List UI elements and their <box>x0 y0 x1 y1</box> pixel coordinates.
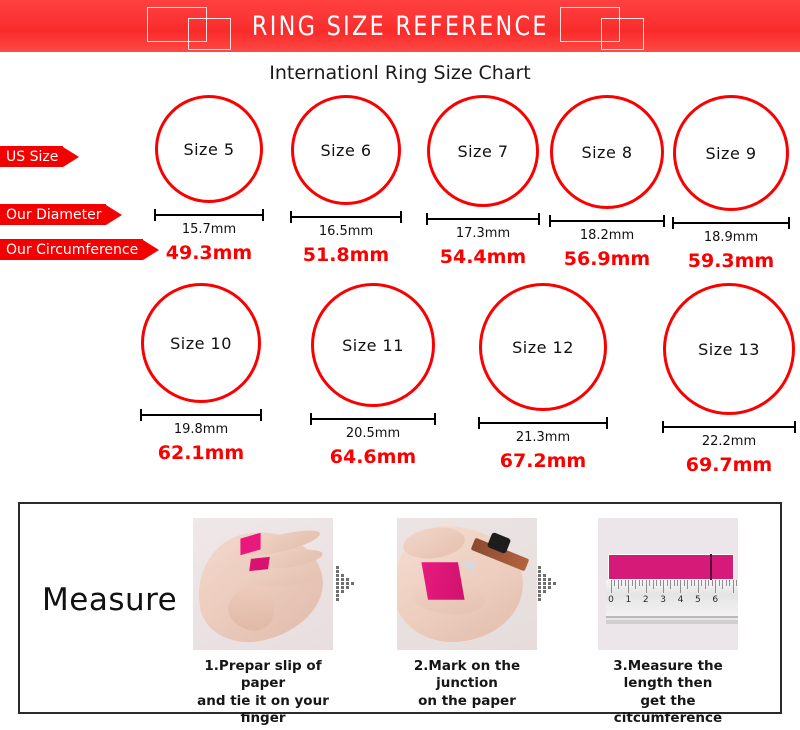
arrow-head-icon <box>63 147 79 167</box>
diameter-dimension-line <box>662 421 796 433</box>
ring-circumference-value: 51.8mm <box>283 244 409 266</box>
step-caption-line-2: on the paper <box>392 693 542 710</box>
diameter-dimension-line <box>140 409 262 421</box>
ring-size-cell: Size 1019.8mm62.1mm <box>133 283 269 464</box>
ring-diameter-value: 15.7mm <box>147 222 271 237</box>
ring-circumference-value: 64.6mm <box>303 446 443 468</box>
ring-size-cell: Size 1221.3mm67.2mm <box>471 283 615 472</box>
measure-instructions-panel: Measure 1.Prepar slip of paper and tie i… <box>18 502 782 714</box>
ruler-number: 0 <box>608 595 614 605</box>
diameter-dimension-line <box>426 213 540 225</box>
step-caption-line-1: 2.Mark on the junction <box>392 658 542 693</box>
ring-circle: Size 12 <box>479 283 607 411</box>
ring-circle: Size 7 <box>427 95 539 207</box>
ring-size-cell: Size 1322.2mm69.7mm <box>655 283 800 476</box>
dotted-arrow-icon <box>336 566 362 600</box>
ring-circumference-value: 67.2mm <box>471 450 615 472</box>
ring-diameter-value: 19.8mm <box>133 422 269 437</box>
ruler-number: 2 <box>643 595 649 605</box>
paper-slip <box>249 557 270 571</box>
ring-circumference-value: 69.7mm <box>655 454 800 476</box>
ring-circle: Size 8 <box>550 95 664 209</box>
ring-diameter-value: 21.3mm <box>471 430 615 445</box>
ring-circle: Size 10 <box>141 283 261 403</box>
paper-slip <box>608 554 734 580</box>
ring-size-cell: Size 515.7mm49.3mm <box>147 95 271 264</box>
ring-size-cell: Size 918.9mm59.3mm <box>665 95 797 272</box>
pen-mark <box>710 554 712 580</box>
ruler-icon: 0123456 <box>606 580 738 618</box>
ruler-number: 1 <box>625 595 631 605</box>
label-our-circumference-text: Our Circumference <box>0 239 143 260</box>
ring-size-label: Size 13 <box>698 340 760 359</box>
decoration-rectangle-small <box>188 18 231 50</box>
ring-circle: Size 11 <box>311 283 435 407</box>
ring-circumference-value: 62.1mm <box>133 442 269 464</box>
step-caption-line-1: 3.Measure the length then <box>593 658 743 693</box>
ring-circle: Size 6 <box>291 95 401 205</box>
ring-circumference-value: 59.3mm <box>665 250 797 272</box>
ring-circle: Size 9 <box>673 95 789 211</box>
measure-heading: Measure <box>42 582 177 618</box>
ruler-number: 5 <box>695 595 701 605</box>
ring-diameter-value: 16.5mm <box>283 224 409 239</box>
ruler-number: 3 <box>660 595 666 605</box>
ring-size-cell: Size 1120.5mm64.6mm <box>303 283 443 468</box>
label-our-diameter-text: Our Diameter <box>0 204 106 225</box>
measure-step-1-caption: 1.Prepar slip of paper and tie it on you… <box>188 658 338 727</box>
ring-size-cell: Size 616.5mm51.8mm <box>283 95 409 266</box>
diameter-dimension-line <box>549 215 665 227</box>
ruler-number: 4 <box>678 595 684 605</box>
ring-size-label: Size 10 <box>170 334 232 353</box>
diameter-dimension-line <box>672 217 790 229</box>
ring-diameter-value: 18.2mm <box>542 228 672 243</box>
label-us-size-text: US Size <box>0 146 63 167</box>
ring-size-label: Size 6 <box>320 141 371 160</box>
ring-size-cell: Size 717.3mm54.4mm <box>419 95 547 268</box>
diameter-dimension-line <box>290 211 402 223</box>
diameter-dimension-line <box>154 209 264 221</box>
measure-step-2-caption: 2.Mark on the junction on the paper <box>392 658 542 710</box>
ring-diameter-value: 18.9mm <box>665 230 797 245</box>
ring-diameter-value: 17.3mm <box>419 226 547 241</box>
measure-step-3: 0123456 3.Measure the length then get th… <box>593 518 743 727</box>
ring-size-label: Size 7 <box>457 142 508 161</box>
ring-circumference-value: 49.3mm <box>147 242 271 264</box>
ring-size-label: Size 8 <box>581 143 632 162</box>
banner-title: RING SIZE REFERENCE <box>252 11 549 42</box>
label-our-circumference: Our Circumference <box>0 239 159 260</box>
measure-step-3-caption: 3.Measure the length then get the citcum… <box>593 658 743 727</box>
step-caption-line-1: 1.Prepar slip of paper <box>188 658 338 693</box>
banner-decoration-right <box>558 4 668 48</box>
photo-marking-paper-with-pen <box>397 518 537 650</box>
ruler-number: 6 <box>712 595 718 605</box>
measure-step-1: 1.Prepar slip of paper and tie it on you… <box>188 518 338 727</box>
ring-size-label: Size 11 <box>342 336 404 355</box>
ring-size-cell: Size 818.2mm56.9mm <box>542 95 672 270</box>
ring-size-label: Size 5 <box>183 140 234 159</box>
measure-step-2: 2.Mark on the junction on the paper <box>392 518 542 710</box>
arrow-head-icon <box>106 205 122 225</box>
ring-circle: Size 13 <box>663 283 795 415</box>
ring-circle: Size 5 <box>155 95 263 203</box>
step-caption-line-2: get the citcumference <box>593 693 743 728</box>
banner-decoration-left <box>145 4 255 48</box>
label-us-size: US Size <box>0 146 79 167</box>
header-banner: RING SIZE REFERENCE <box>0 0 800 52</box>
decoration-rectangle-small <box>601 18 644 50</box>
ring-size-label: Size 12 <box>512 338 574 357</box>
ring-circumference-value: 56.9mm <box>542 248 672 270</box>
dotted-arrow-icon <box>538 566 564 600</box>
step-caption-line-2: and tie it on your finger <box>188 693 338 728</box>
ring-size-label: Size 9 <box>705 144 756 163</box>
photo-hand-with-paper-slip <box>193 518 333 650</box>
diameter-dimension-line <box>478 417 608 429</box>
photo-ruler-measuring-paper: 0123456 <box>598 518 738 650</box>
ring-diameter-value: 20.5mm <box>303 426 443 441</box>
ring-diameter-value: 22.2mm <box>655 434 800 449</box>
label-our-diameter: Our Diameter <box>0 204 122 225</box>
diameter-dimension-line <box>310 413 436 425</box>
page-title: Internationl Ring Size Chart <box>0 62 800 84</box>
ring-circumference-value: 54.4mm <box>419 246 547 268</box>
